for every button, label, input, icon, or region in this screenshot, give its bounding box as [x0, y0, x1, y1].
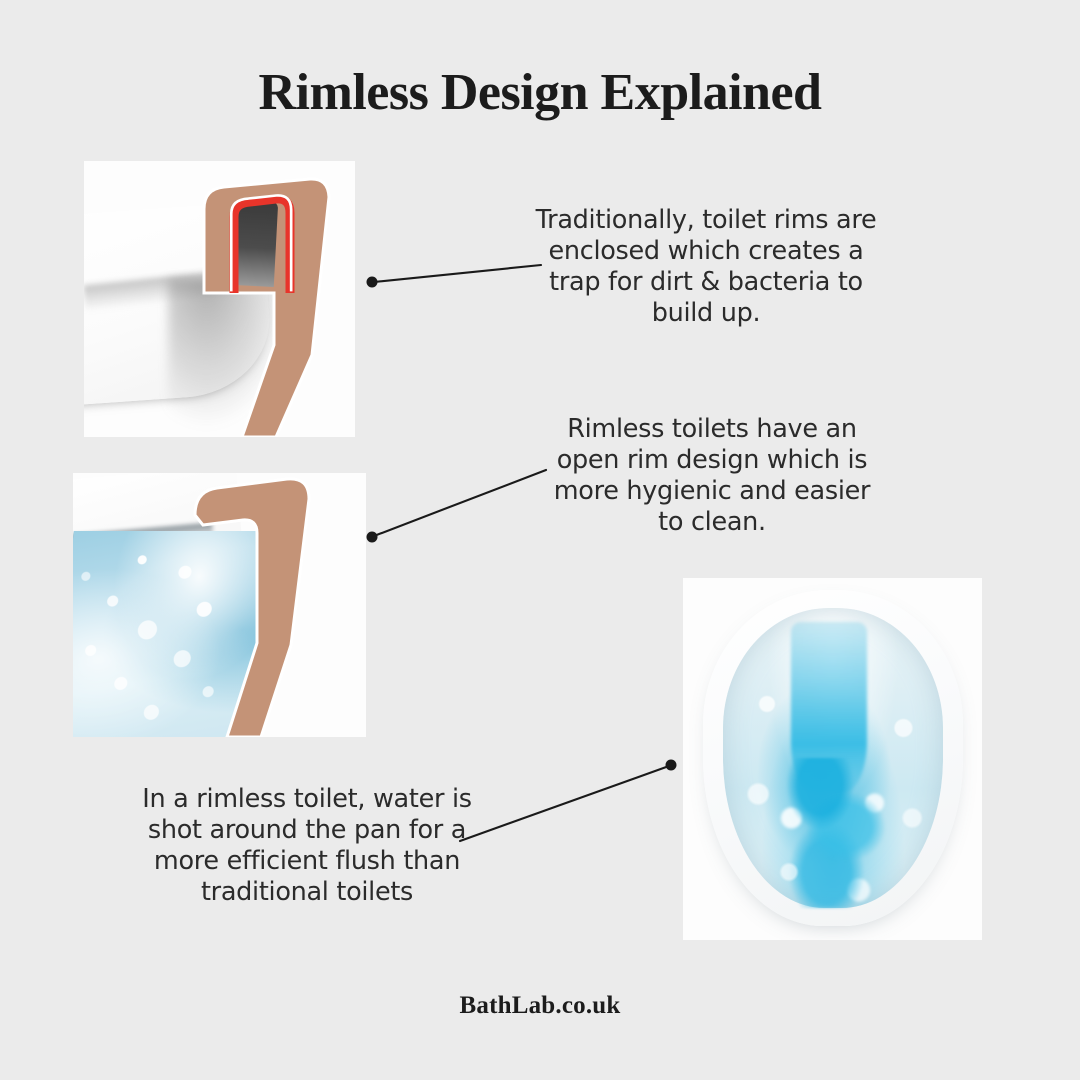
callout-line: enclosed which creates a — [521, 236, 891, 267]
connector-traditional-rim — [374, 265, 541, 282]
callout-line: more hygienic and easier — [537, 476, 887, 507]
callout-traditional-rim: Traditionally, toilet rims are enclosed … — [521, 205, 891, 328]
connector-rimless-open-rim — [374, 470, 546, 536]
callout-line: In a rimless toilet, water is — [126, 784, 488, 815]
callout-line: open rim design which is — [537, 445, 887, 476]
callout-line: to clean. — [537, 507, 887, 538]
callout-line: traditional toilets — [126, 877, 488, 908]
brand-wordmark: BathLab.co.uk — [0, 992, 1080, 1020]
connector-lines-layer — [0, 0, 1080, 1080]
connector-rimless-flush — [460, 766, 669, 841]
callout-line: Traditionally, toilet rims are — [521, 205, 891, 236]
callout-line: more efficient flush than — [126, 846, 488, 877]
connector-dot-rimless-flush — [666, 760, 677, 771]
callout-rimless-flush: In a rimless toilet, water is shot aroun… — [126, 784, 488, 907]
callout-line: trap for dirt & bacteria to — [521, 267, 891, 298]
connector-dot-rimless-open-rim — [367, 532, 378, 543]
callout-line: Rimless toilets have an — [537, 414, 887, 445]
callout-line: shot around the pan for a — [126, 815, 488, 846]
connector-dot-traditional-rim — [367, 277, 378, 288]
callout-rimless-open-rim: Rimless toilets have an open rim design … — [537, 414, 887, 537]
infographic-canvas: Rimless Design Explained — [0, 0, 1080, 1080]
callout-line: build up. — [521, 298, 891, 329]
